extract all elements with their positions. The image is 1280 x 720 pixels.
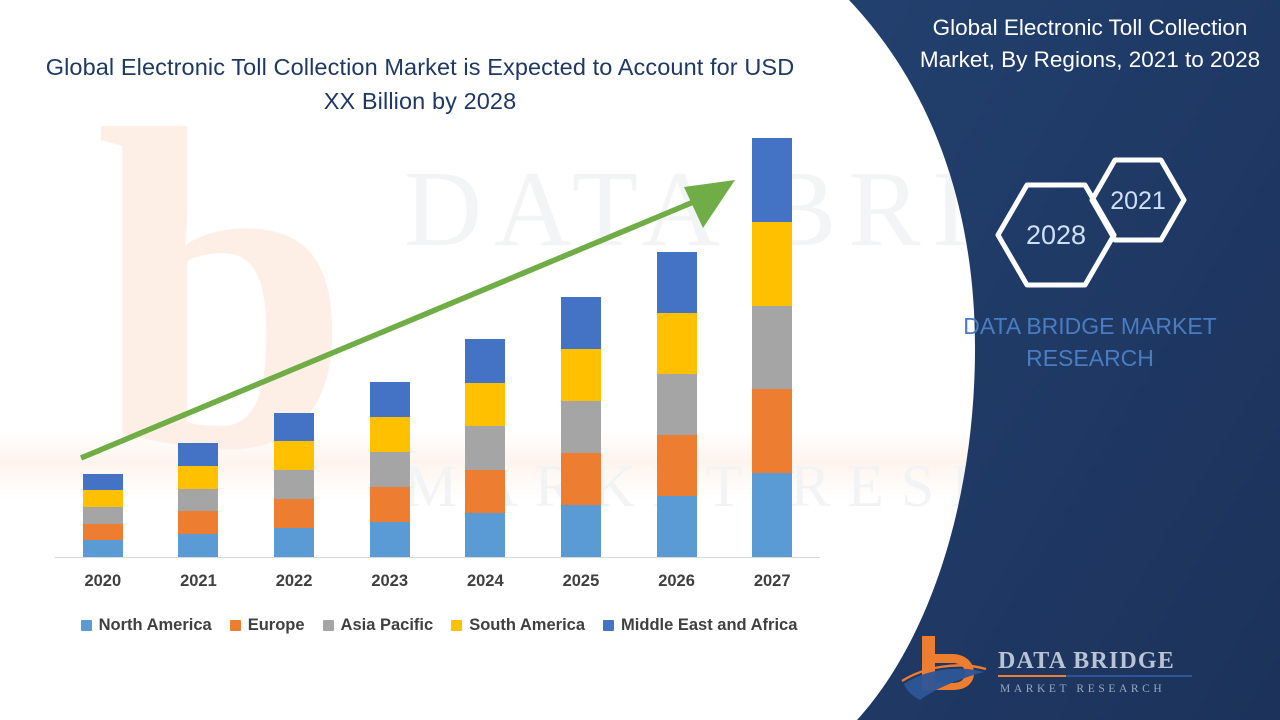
bar-2020 [83, 474, 123, 557]
stacked-bar-chart [55, 150, 820, 560]
bar-segment [370, 382, 410, 417]
legend-swatch-icon [451, 620, 462, 631]
bar-segment [465, 339, 505, 383]
bar-segment [752, 306, 792, 390]
bar-segment [83, 524, 123, 541]
x-tick-2020: 2020 [63, 572, 143, 591]
bar-segment [83, 507, 123, 524]
data-bridge-logo: DATA BRIDGE MARKET RESEARCH [900, 632, 1250, 704]
right-panel-title: Global Electronic Toll Collection Market… [900, 12, 1280, 76]
brand-name: DATA BRIDGE MARKET RESEARCH [900, 310, 1280, 374]
legend-label: Middle East and Africa [621, 616, 797, 635]
bar-2027 [752, 138, 792, 557]
bar-2024 [465, 339, 505, 557]
bar-segment [657, 374, 697, 435]
bar-segment [178, 489, 218, 512]
bar-segment [561, 505, 601, 557]
legend-swatch-icon [603, 620, 614, 631]
bar-segment [752, 138, 792, 222]
logo-name-top: DATA BRIDGE [998, 648, 1175, 674]
bar-segment [370, 452, 410, 487]
bar-segment [465, 426, 505, 470]
chart-legend: North AmericaEuropeAsia PacificSouth Ame… [55, 616, 823, 635]
bar-segment [657, 313, 697, 374]
brand-line-1: DATA BRIDGE MARKET [900, 310, 1280, 342]
bar-2026 [657, 252, 697, 557]
bar-segment [274, 441, 314, 470]
chart-plot-area [55, 150, 820, 558]
bar-segment [465, 513, 505, 557]
bar-segment [561, 349, 601, 401]
legend-label: South America [469, 616, 585, 635]
bar-segment [465, 470, 505, 514]
infographic-slide: b DATA BRIDGE MARKET RESEARCH Global Ele… [0, 0, 1280, 720]
x-tick-2022: 2022 [254, 572, 334, 591]
bar-2023 [370, 382, 410, 557]
x-tick-2026: 2026 [637, 572, 717, 591]
hex-2028-label: 2028 [1026, 220, 1086, 250]
bar-segment [752, 222, 792, 306]
x-axis-labels: 20202021202220232024202520262027 [55, 572, 820, 600]
legend-swatch-icon [81, 620, 92, 631]
bar-segment [370, 487, 410, 522]
legend-item[interactable]: North America [81, 616, 212, 635]
legend-swatch-icon [230, 620, 241, 631]
hex-2021-label: 2021 [1110, 187, 1166, 215]
legend-item[interactable]: Europe [230, 616, 305, 635]
bar-segment [561, 401, 601, 453]
legend-label: Europe [248, 616, 305, 635]
bar-segment [83, 490, 123, 507]
x-tick-2023: 2023 [350, 572, 430, 591]
bar-segment [370, 417, 410, 452]
legend-item[interactable]: Middle East and Africa [603, 616, 797, 635]
legend-item[interactable]: South America [451, 616, 585, 635]
bar-2022 [274, 413, 314, 557]
bar-segment [752, 473, 792, 557]
bar-segment [561, 297, 601, 349]
bar-segment [83, 540, 123, 557]
bar-segment [178, 443, 218, 466]
bar-2021 [178, 443, 218, 557]
bar-segment [657, 496, 697, 557]
bar-segment [274, 413, 314, 442]
bar-segment [178, 534, 218, 557]
x-tick-2025: 2025 [541, 572, 621, 591]
legend-item[interactable]: Asia Pacific [323, 616, 434, 635]
bar-segment [178, 511, 218, 534]
bar-segment [274, 470, 314, 499]
legend-label: Asia Pacific [341, 616, 434, 635]
bar-segment [465, 383, 505, 427]
x-tick-2021: 2021 [158, 572, 238, 591]
bar-segment [370, 522, 410, 557]
bar-segment [83, 474, 123, 491]
bar-2025 [561, 297, 601, 557]
legend-swatch-icon [323, 620, 334, 631]
legend-label: North America [99, 616, 212, 635]
brand-line-2: RESEARCH [900, 342, 1280, 374]
bar-segment [274, 528, 314, 557]
bar-segment [178, 466, 218, 489]
hexagon-group: 2028 2021 [970, 140, 1270, 305]
bar-segment [657, 252, 697, 313]
x-tick-2024: 2024 [445, 572, 525, 591]
bar-segment [561, 453, 601, 505]
x-tick-2027: 2027 [732, 572, 812, 591]
x-axis-line [55, 557, 820, 558]
right-panel-content: Global Electronic Toll Collection Market… [900, 0, 1280, 720]
page-title: Global Electronic Toll Collection Market… [40, 50, 800, 118]
bar-segment [274, 499, 314, 528]
bar-segment [752, 389, 792, 473]
logo-name-bottom: MARKET RESEARCH [1000, 683, 1165, 695]
bar-segment [657, 435, 697, 496]
